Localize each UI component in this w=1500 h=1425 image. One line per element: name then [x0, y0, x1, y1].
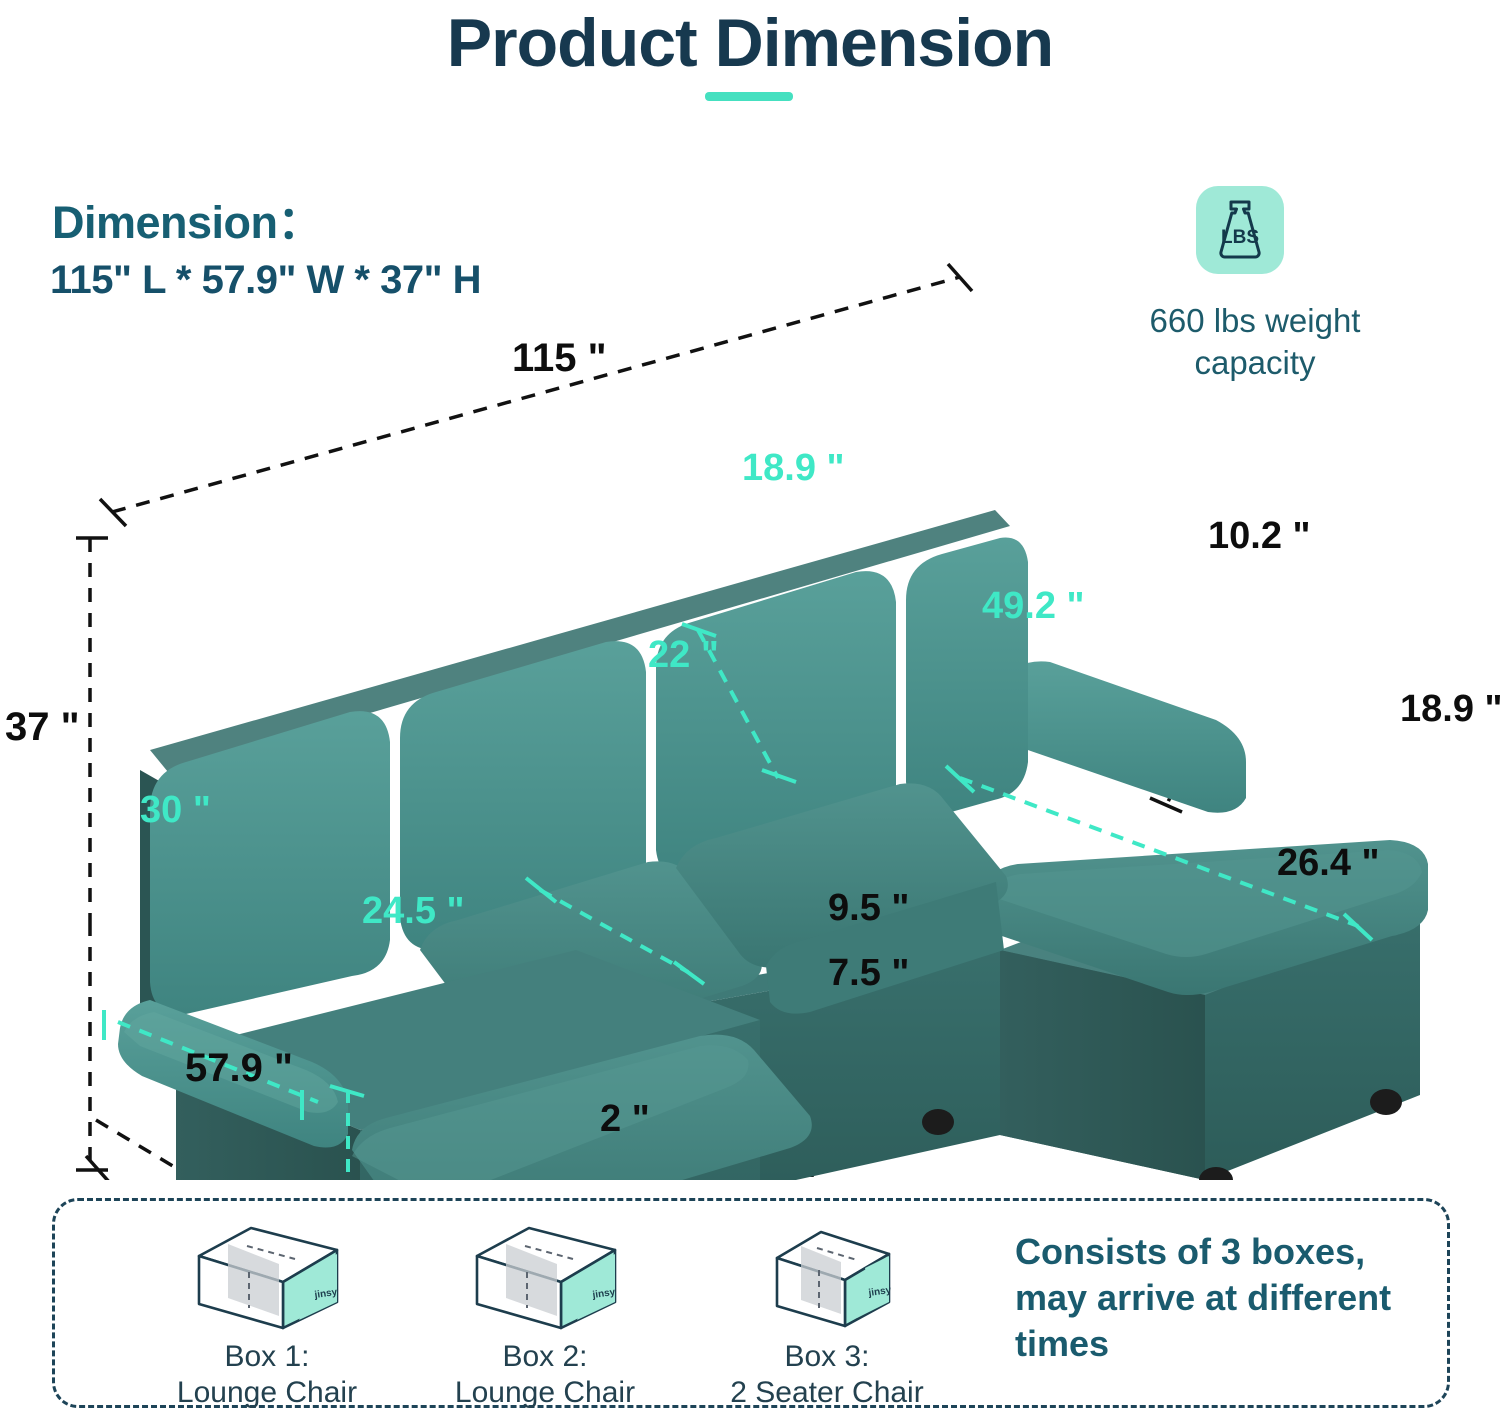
sofa-illustration	[0, 250, 1500, 1180]
box-icon-1: jinsy	[117, 1215, 417, 1337]
infographic-canvas: Product Dimension Dimension： 115" L * 57…	[0, 0, 1500, 1425]
dimension-label-115: 115 "	[512, 336, 607, 381]
box-caption-1: Box 1: Lounge Chair	[117, 1339, 417, 1411]
box-item-1: jinsy Box 1: Lounge Chair	[117, 1215, 417, 1411]
dimension-label-10-2: 10.2 "	[1208, 515, 1311, 558]
dimension-label-18-9-seat: 18.9 "	[1400, 688, 1500, 731]
dimension-label-26-4: 26.4 "	[1277, 842, 1380, 885]
box-icon-2: jinsy	[395, 1215, 695, 1337]
dimension-label-7-5: 7.5 "	[828, 952, 909, 995]
box-item-3: jinsy Box 3: 2 Seater Chair	[677, 1215, 977, 1411]
packaging-panel: jinsy Box 1: Lounge Chair jinsy	[52, 1198, 1450, 1408]
dimension-label-49-2: 49.2 "	[982, 585, 1085, 628]
title-underline-accent	[705, 92, 793, 101]
dimension-label-22: 22 "	[648, 634, 719, 677]
box-icon-3: jinsy	[677, 1215, 977, 1337]
dimension-label-24-5: 24.5 "	[362, 890, 465, 933]
dimension-label-18-9-back: 18.9 "	[742, 447, 845, 490]
dimension-label-30: 30 "	[140, 789, 211, 832]
dimension-label-9-5: 9.5 "	[828, 887, 909, 930]
box-caption-2: Box 2: Lounge Chair	[395, 1339, 695, 1411]
sofa-graphic	[118, 510, 1428, 1180]
dimension-heading-label: Dimension：	[52, 186, 322, 251]
dimension-label-57-9: 57.9 "	[185, 1046, 293, 1091]
box-caption-3: Box 3: 2 Seater Chair	[677, 1339, 977, 1411]
packaging-note: Consists of 3 boxes, may arrive at diffe…	[1015, 1229, 1415, 1367]
svg-text:LBS: LBS	[1221, 227, 1259, 248]
box-item-2: jinsy Box 2: Lounge Chair	[395, 1215, 695, 1411]
page-title: Product Dimension	[0, 4, 1500, 82]
dimension-label-2: 2 "	[600, 1098, 650, 1141]
dimension-label-37: 37 "	[5, 705, 80, 750]
